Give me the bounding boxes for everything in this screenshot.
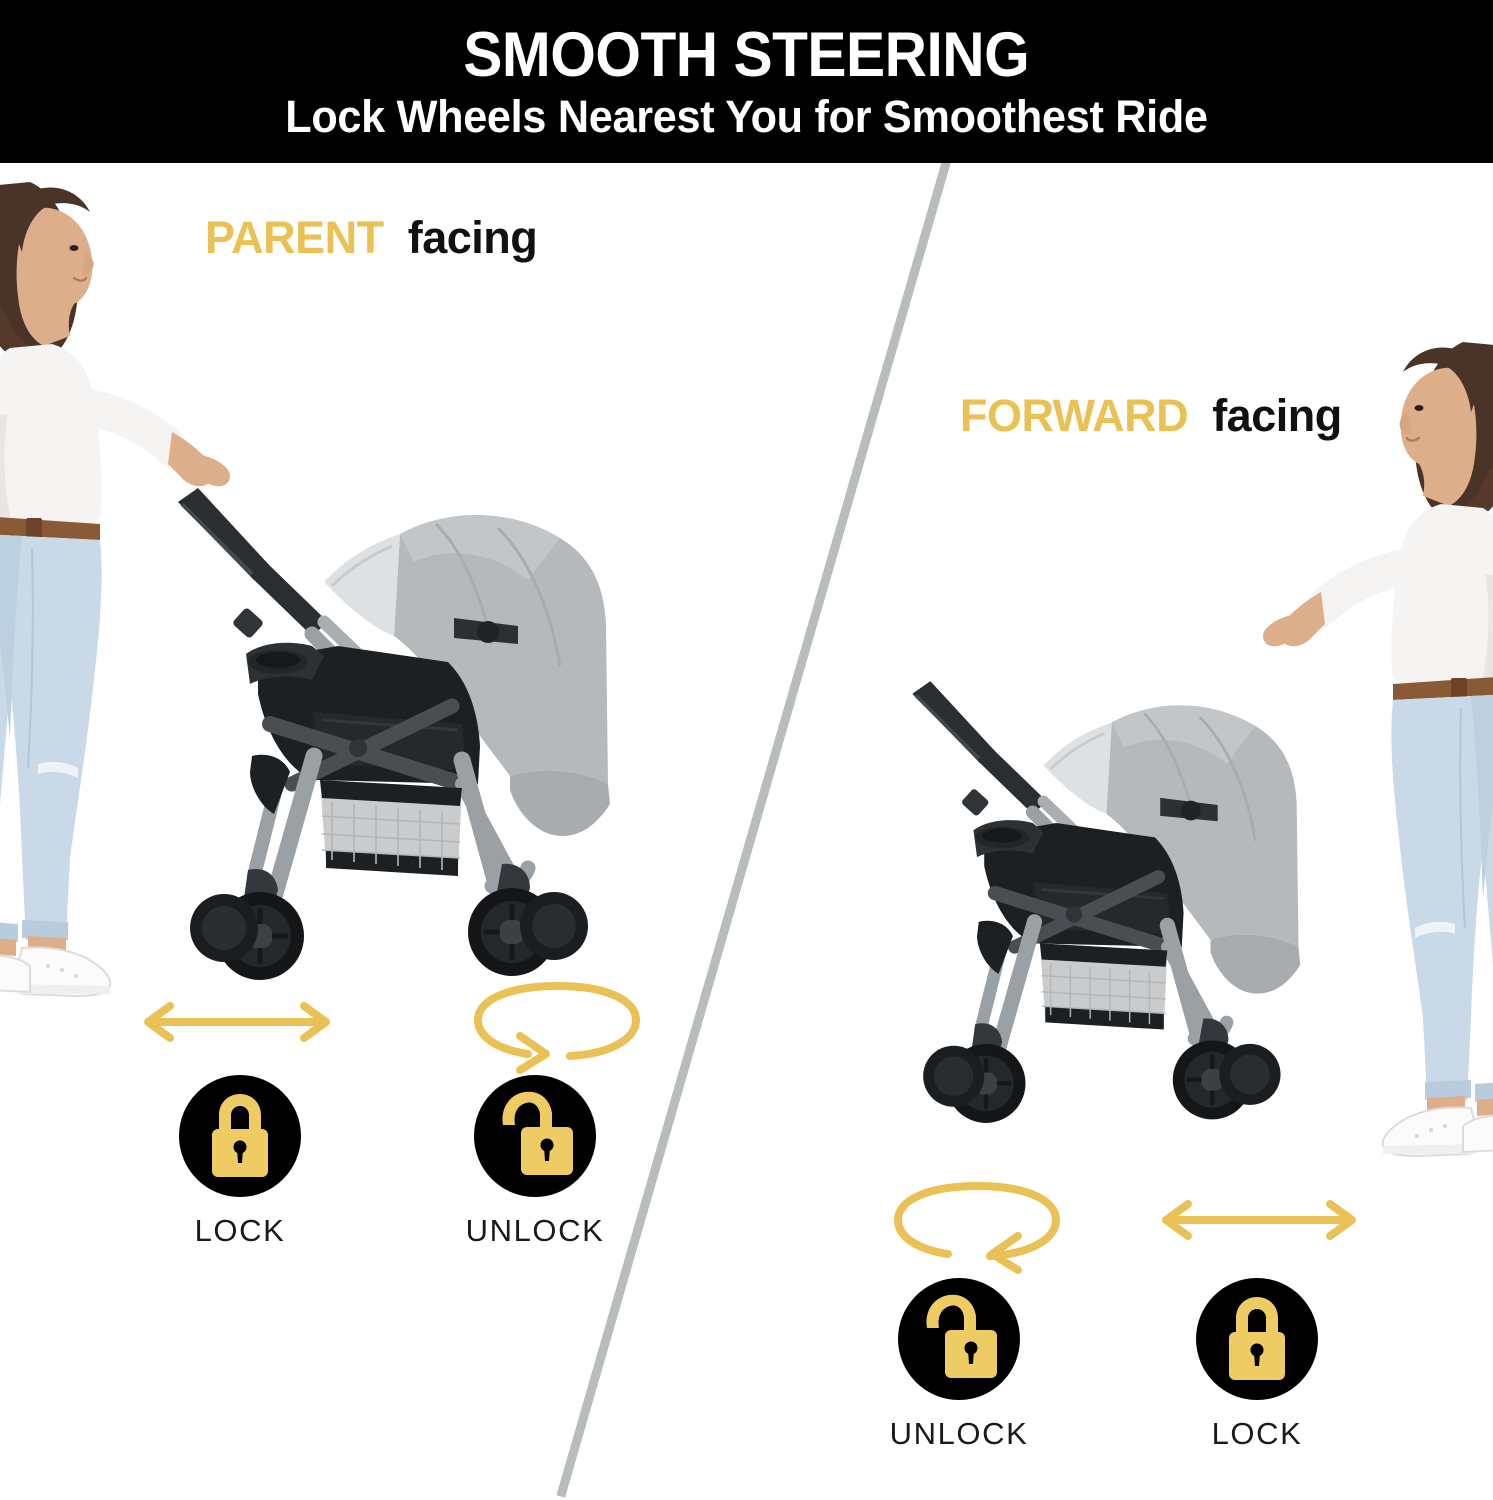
unlock-badge-parent-facing[interactable]: UNLOCK [474, 1075, 596, 1197]
page-subtitle: Lock Wheels Nearest You for Smoothest Ri… [285, 93, 1208, 140]
unlock-icon [898, 1278, 1020, 1400]
lock-straight-arrow-right [1166, 1204, 1352, 1236]
unlock-badge-caption: UNLOCK [466, 1213, 605, 1249]
lock-icon [179, 1075, 301, 1197]
parent-facing-label-plain: facing [408, 212, 538, 263]
unlock-badge-caption: UNLOCK [890, 1416, 1029, 1452]
lock-badge-parent-facing[interactable]: LOCK [179, 1075, 301, 1197]
forward-facing-label: FORWARD facing [960, 390, 1342, 442]
unlock-badge-forward-facing[interactable]: UNLOCK [898, 1278, 1020, 1400]
header-banner: SMOOTH STEERING Lock Wheels Nearest You … [0, 0, 1493, 163]
parent-facing-stroller-photo [162, 484, 652, 1024]
lock-badge-caption: LOCK [1212, 1416, 1303, 1452]
forward-facing-label-plain: facing [1212, 390, 1342, 441]
lock-badge-forward-facing[interactable]: LOCK [1196, 1278, 1318, 1400]
parent-facing-label: PARENT facing [205, 212, 537, 264]
unlock-icon [474, 1075, 596, 1197]
lock-icon [1196, 1278, 1318, 1400]
forward-facing-label-accent: FORWARD [960, 390, 1200, 441]
page-title: SMOOTH STEERING [464, 23, 1030, 87]
parent-facing-label-accent: PARENT [205, 212, 396, 263]
lock-badge-caption: LOCK [195, 1213, 286, 1249]
forward-facing-person-photo [1261, 338, 1493, 1168]
